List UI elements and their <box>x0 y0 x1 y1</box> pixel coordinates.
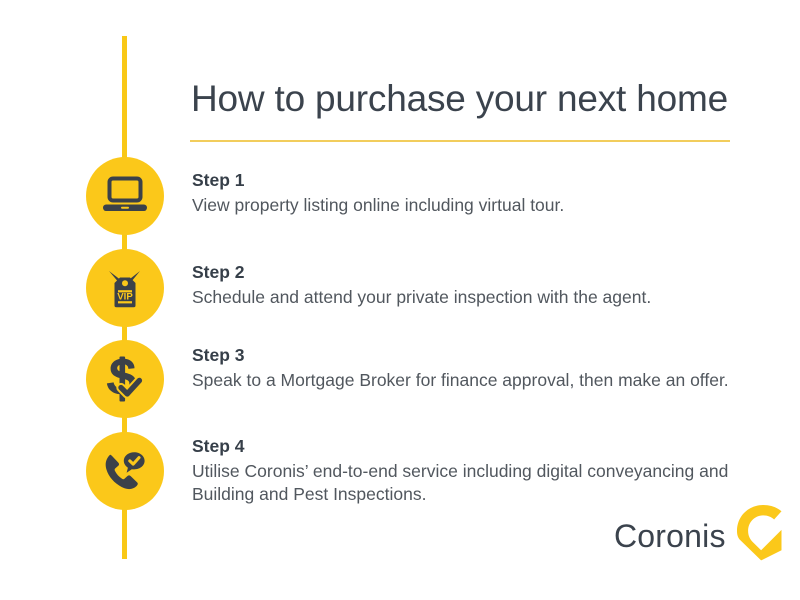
brand-logo: Coronis <box>614 505 783 566</box>
step-item-2: Step 2 Schedule and attend your private … <box>192 262 752 309</box>
step-3-label: Step 3 <box>192 345 752 367</box>
step-4-description: Utilise Coronis’ end-to-end service incl… <box>192 460 752 506</box>
brand-name: Coronis <box>614 520 726 552</box>
step-4-icon-circle <box>86 432 164 510</box>
laptop-icon <box>101 176 149 216</box>
step-3-description: Speak to a Mortgage Broker for finance a… <box>192 369 752 392</box>
step-1-label: Step 1 <box>192 170 752 192</box>
step-2-label: Step 2 <box>192 262 752 284</box>
step-1-icon-circle <box>86 157 164 235</box>
coronis-c-logo-icon <box>736 505 783 566</box>
step-2-description: Schedule and attend your private inspect… <box>192 286 752 309</box>
step-3-icon-circle <box>86 340 164 418</box>
step-2-icon-circle: VIP <box>86 249 164 327</box>
vip-tag-label: VIP <box>117 292 133 303</box>
title-underline-rule <box>190 140 730 142</box>
dollar-check-icon <box>101 355 149 403</box>
step-item-3: Step 3 Speak to a Mortgage Broker for fi… <box>192 345 752 392</box>
step-item-4: Step 4 Utilise Coronis’ end-to-end servi… <box>192 436 752 506</box>
page-title: How to purchase your next home <box>191 78 728 120</box>
step-1-description: View property listing online including v… <box>192 194 752 217</box>
vip-tag-icon: VIP <box>102 265 148 311</box>
phone-check-icon <box>101 448 149 494</box>
step-item-1: Step 1 View property listing online incl… <box>192 170 752 217</box>
step-4-label: Step 4 <box>192 436 752 458</box>
infographic-canvas: How to purchase your next home VIP <box>0 0 800 600</box>
